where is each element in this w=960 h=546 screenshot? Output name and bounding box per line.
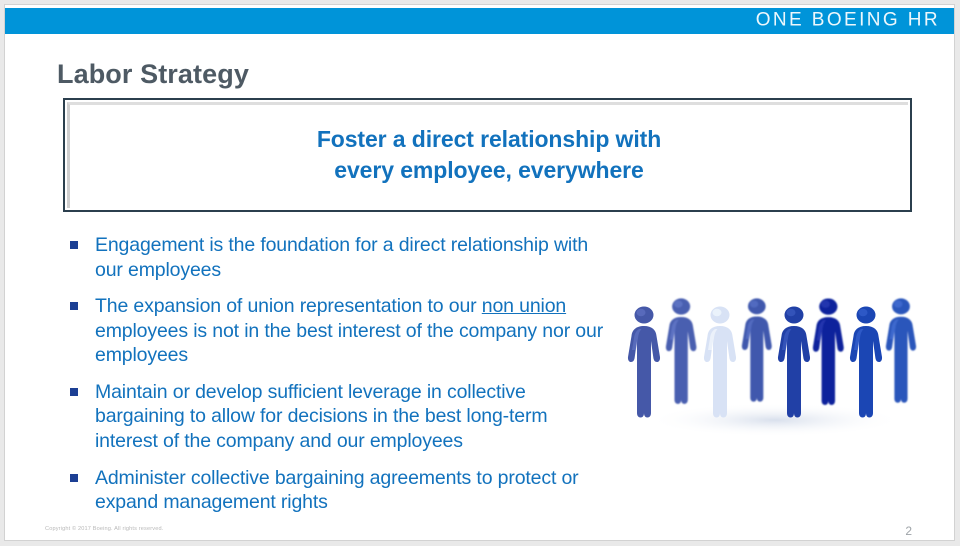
person-figure (850, 307, 882, 418)
person-figure (666, 298, 696, 403)
text-pre: The expansion of union representation to… (95, 295, 482, 317)
slide-canvas: ONE BOEING HR Labor Strategy Foster a di… (4, 4, 955, 541)
brand-header-bar: ONE BOEING HR (5, 8, 954, 34)
text-pre: Maintain or develop sufficient leverage … (95, 381, 547, 452)
square-bullet-icon (70, 474, 78, 482)
person-figure (886, 298, 916, 402)
square-bullet-icon (70, 388, 78, 396)
page-title: Labor Strategy (57, 59, 249, 90)
list-item-text: The expansion of union representation to… (95, 295, 603, 366)
bullet-list: Engagement is the foundation for a direc… (67, 233, 607, 515)
callout-box-inner: Foster a direct relationship with every … (67, 102, 908, 208)
group-of-people-illustration (607, 283, 937, 448)
text-underlined: non union (482, 295, 566, 317)
brand-header-title: ONE BOEING HR (756, 10, 940, 32)
list-item-text: Engagement is the foundation for a direc… (95, 234, 588, 281)
callout-box: Foster a direct relationship with every … (63, 98, 912, 212)
list-item: Engagement is the foundation for a direc… (67, 233, 607, 282)
text-post: employees is not in the best interest of… (95, 320, 603, 367)
list-item: Maintain or develop sufficient leverage … (67, 380, 607, 454)
page-number: 2 (905, 524, 912, 538)
list-item: Administer collective bargaining agreeme… (67, 466, 607, 515)
person-figure (704, 307, 736, 418)
person-figure (742, 298, 772, 401)
person-figure (628, 307, 660, 418)
square-bullet-icon (70, 302, 78, 310)
square-bullet-icon (70, 241, 78, 249)
people-svg (607, 283, 937, 448)
callout-line-2: every employee, everywhere (317, 155, 661, 186)
list-item-text: Administer collective bargaining agreeme… (95, 467, 579, 514)
footer-copyright: Copyright © 2017 Boeing. All rights rese… (45, 526, 163, 532)
person-figure (813, 298, 844, 405)
list-item-text: Maintain or develop sufficient leverage … (95, 381, 547, 452)
person-figure (778, 307, 810, 418)
callout-text: Foster a direct relationship with every … (317, 124, 661, 186)
list-item: The expansion of union representation to… (67, 294, 607, 368)
callout-line-1: Foster a direct relationship with (317, 124, 661, 155)
text-pre: Administer collective bargaining agreeme… (95, 467, 579, 514)
text-pre: Engagement is the foundation for a direc… (95, 234, 588, 281)
